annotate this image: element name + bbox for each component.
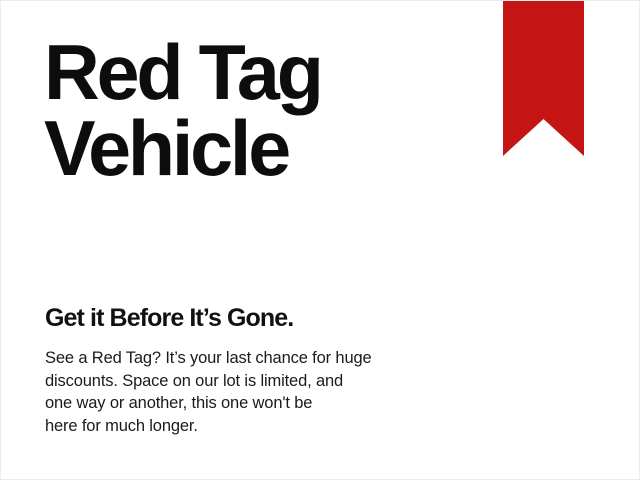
body-copy-line-4: here for much longer.: [45, 415, 425, 438]
headline-line-1: Red Tag: [44, 34, 480, 110]
body-copy-line-3: one way or another, this one won't be: [45, 392, 425, 415]
page-title: Red Tag Vehicle: [44, 34, 484, 187]
subheading: Get it Before It’s Gone.: [45, 305, 293, 333]
ribbon-shape-icon: [503, 1, 584, 157]
body-copy-line-2: discounts. Space on our lot is limited, …: [45, 370, 425, 393]
body-copy-line-1: See a Red Tag? It’s your last chance for…: [45, 347, 425, 370]
red-tag-vehicle-promo-card: Red Tag Vehicle Get it Before It’s Gone.…: [0, 0, 640, 480]
body-copy: See a Red Tag? It’s your last chance for…: [45, 347, 425, 437]
headline-line-2: Vehicle: [44, 110, 480, 186]
red-tag-ribbon-bookmark: [503, 1, 584, 157]
